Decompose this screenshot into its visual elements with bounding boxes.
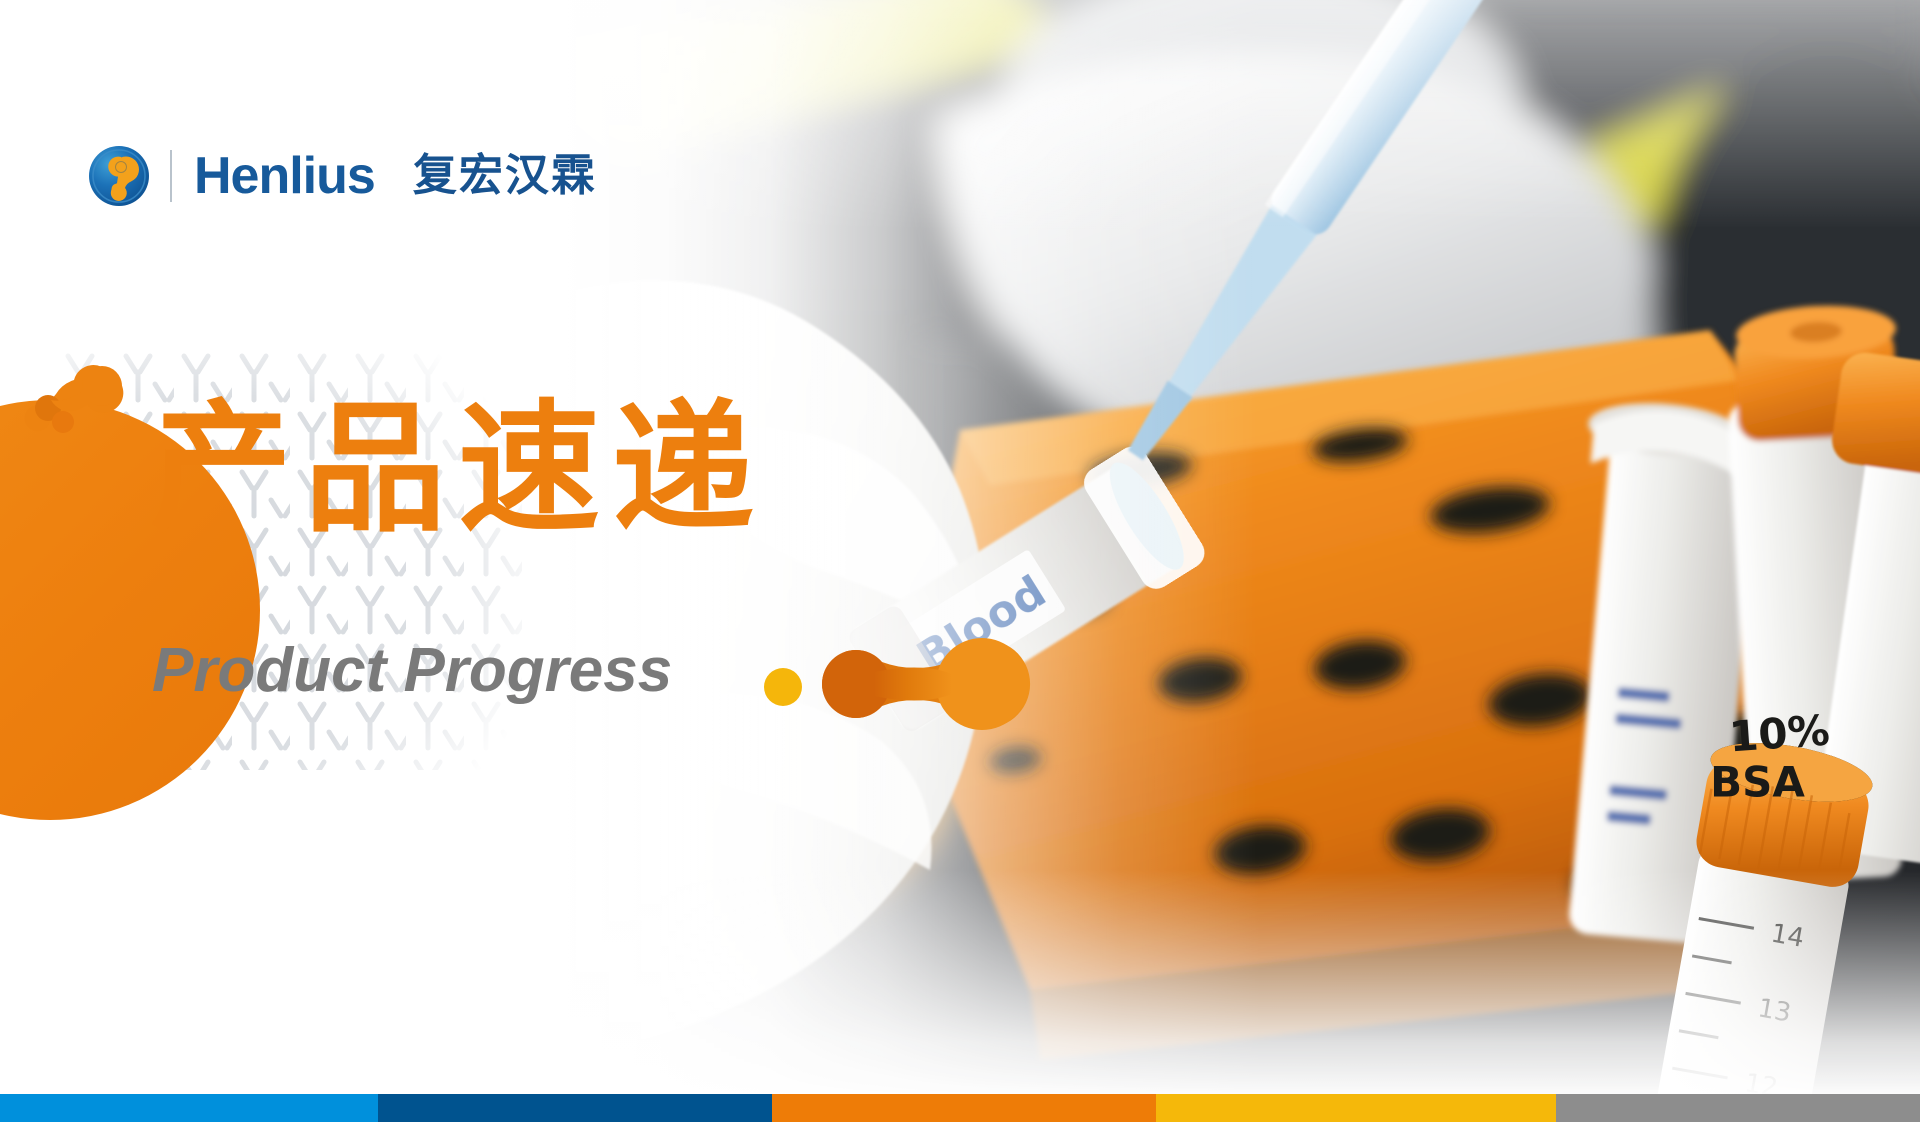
bottom-bar-segment-yellow	[1156, 1094, 1556, 1122]
bottom-color-bar	[0, 1094, 1920, 1122]
molecule-icon-large	[812, 632, 1042, 742]
bottom-bar-segment-dark-blue	[378, 1094, 772, 1122]
brand-wordmark: Henlius	[194, 150, 375, 202]
bottom-bar-segment-gray	[1556, 1094, 1920, 1122]
slide-canvas: Blood	[0, 0, 1920, 1122]
svg-text:BSA: BSA	[1710, 758, 1805, 807]
bottom-bar-segment-light-blue	[0, 1094, 378, 1122]
svg-text:13: 13	[1755, 993, 1793, 1028]
page-title-english: Product Progress	[152, 640, 672, 702]
page-title-chinese: 产品速递	[150, 392, 766, 548]
brand-chinese-name: 复宏汉霖	[413, 154, 597, 198]
bottom-bar-segment-orange	[772, 1094, 1156, 1122]
henlius-circle-key-logo-icon	[88, 145, 150, 207]
logo-divider	[170, 150, 172, 202]
decor-yellow-dot	[764, 668, 802, 706]
molecule-icon-small	[18, 360, 138, 450]
svg-text:10%: 10%	[1728, 706, 1832, 762]
brand-logo[interactable]: Henlius 复宏汉霖	[88, 140, 597, 212]
svg-text:14: 14	[1769, 919, 1807, 954]
